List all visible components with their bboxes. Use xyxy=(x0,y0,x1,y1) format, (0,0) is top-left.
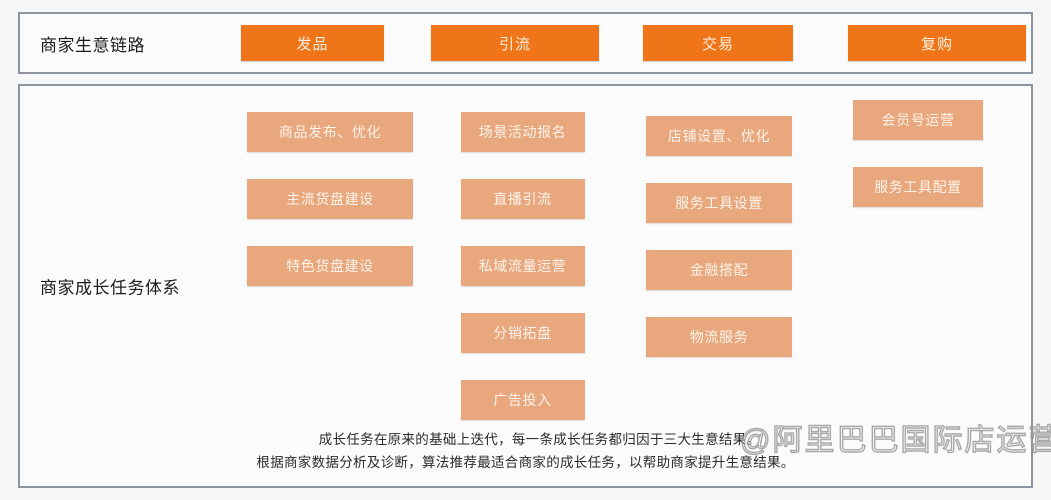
task-box[interactable]: 商品发布、优化 xyxy=(247,112,413,152)
chain-stage-button[interactable]: 引流 xyxy=(431,25,599,61)
chain-stage-button[interactable]: 发品 xyxy=(241,25,384,61)
task-box[interactable]: 场景活动报名 xyxy=(461,112,585,152)
task-box[interactable]: 主流货盘建设 xyxy=(247,179,413,219)
task-box[interactable]: 物流服务 xyxy=(646,317,792,357)
growth-task-system-panel: 商家成长任务体系 商品发布、优化 主流货盘建设 特色货盘建设 场景活动报名 直播… xyxy=(18,84,1033,488)
business-chain-panel: 商家生意链路 发品 引流 交易 复购 xyxy=(18,12,1033,74)
task-box[interactable]: 店铺设置、优化 xyxy=(646,116,792,156)
task-box[interactable]: 直播引流 xyxy=(461,179,585,219)
growth-task-system-label: 商家成长任务体系 xyxy=(40,274,180,299)
chain-stage-button[interactable]: 复购 xyxy=(848,25,1026,61)
caption-line-2: 根据商家数据分析及诊断，算法推荐最适合商家的成长任务，以帮助商家提升生意结果。 xyxy=(20,451,1031,474)
task-column-publish: 商品发布、优化 主流货盘建设 特色货盘建设 xyxy=(235,100,425,313)
task-columns: 商品发布、优化 主流货盘建设 特色货盘建设 场景活动报名 直播引流 私域流量运营… xyxy=(235,100,1023,447)
chain-stage-button[interactable]: 交易 xyxy=(643,25,793,61)
task-box[interactable]: 私域流量运营 xyxy=(461,246,585,286)
caption-block: 成长任务在原来的基础上迭代，每一条成长任务都归因于三大生意结果。 根据商家数据分… xyxy=(20,428,1031,474)
task-box[interactable]: 广告投入 xyxy=(461,380,585,420)
task-column-traffic: 场景活动报名 直播引流 私域流量运营 分销拓盘 广告投入 xyxy=(425,100,620,447)
business-chain-label: 商家生意链路 xyxy=(20,31,220,56)
task-column-transaction: 店铺设置、优化 服务工具设置 金融搭配 物流服务 xyxy=(620,100,818,384)
task-box[interactable]: 会员号运营 xyxy=(853,100,983,140)
task-box[interactable]: 金融搭配 xyxy=(646,250,792,290)
task-box[interactable]: 特色货盘建设 xyxy=(247,246,413,286)
task-column-repurchase: 会员号运营 服务工具配置 xyxy=(818,100,1018,234)
task-box[interactable]: 分销拓盘 xyxy=(461,313,585,353)
task-box[interactable]: 服务工具设置 xyxy=(646,183,792,223)
task-box[interactable]: 服务工具配置 xyxy=(853,167,983,207)
diagram-canvas: 商家生意链路 发品 引流 交易 复购 商家成长任务体系 商品发布、优化 主流货盘… xyxy=(0,0,1051,500)
caption-line-1: 成长任务在原来的基础上迭代，每一条成长任务都归因于三大生意结果。 xyxy=(20,428,1031,451)
business-chain-stages: 发品 引流 交易 复购 xyxy=(220,14,1031,72)
